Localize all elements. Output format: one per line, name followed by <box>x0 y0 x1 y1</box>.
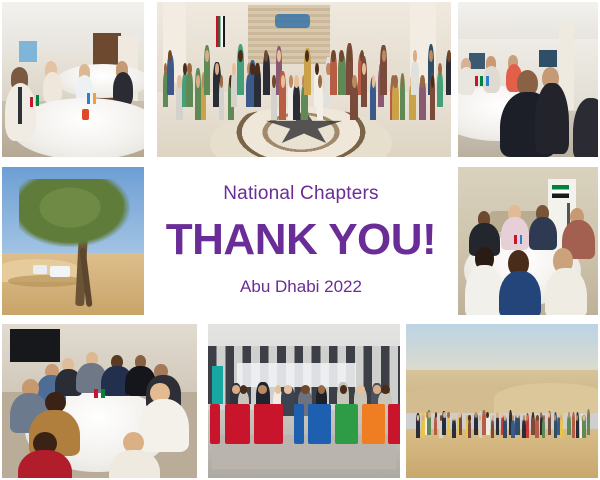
crowd-head <box>492 415 494 421</box>
crowd-head <box>417 415 420 421</box>
caption-main-line: THANK YOU! <box>166 218 436 262</box>
photo-desert-group-photo <box>406 324 598 478</box>
crowd-head <box>177 75 181 87</box>
crowd-head <box>453 415 455 421</box>
caption-block: National Chapters THANK YOU! Abu Dhabi 2… <box>150 163 452 318</box>
crowd-head <box>468 415 470 421</box>
crowd-head <box>447 412 450 418</box>
issup-letter-s <box>335 404 358 444</box>
crowd-head <box>272 75 275 87</box>
photo-conference-room-delegates <box>2 2 144 157</box>
crowd-head <box>362 63 366 75</box>
photo-workshop-table-session <box>2 324 197 478</box>
crowd-head <box>318 75 322 87</box>
issup-letter-u <box>362 404 385 444</box>
photo-desert-tree-landscape <box>2 167 144 315</box>
crowd-head <box>255 63 259 75</box>
crowd-head <box>486 412 489 418</box>
crowd-figure <box>411 61 419 95</box>
crowd-figure <box>434 416 437 435</box>
crowd-head <box>516 412 519 418</box>
crowd-head <box>543 415 545 421</box>
crowd-head <box>294 75 299 87</box>
crowd-head <box>532 412 534 418</box>
crowd-head <box>331 50 336 62</box>
crowd-head <box>428 412 431 418</box>
crowd-head <box>435 412 437 418</box>
crowd-figure <box>511 420 514 438</box>
crowd-figure <box>293 84 300 120</box>
issup-letter-m <box>254 404 283 444</box>
caption-top-line: National Chapters <box>223 184 378 205</box>
crowd-head <box>536 415 539 421</box>
crowd-head <box>187 63 192 75</box>
crowd-head <box>588 412 590 418</box>
crowd-figure <box>452 419 455 438</box>
crowd-head <box>496 412 498 418</box>
caption-sub-line: Abu Dhabi 2022 <box>240 278 362 297</box>
crowd-head <box>393 75 397 87</box>
crowd-head <box>352 75 357 87</box>
photo-group-photo-lobby <box>157 2 451 157</box>
crowd-head <box>238 50 243 62</box>
photo-collage: National Chapters THANK YOU! Abu Dhabi 2… <box>0 0 600 480</box>
crowd-head <box>583 415 585 421</box>
issup-letter-p <box>388 404 400 444</box>
photo-roundtable-discussion <box>458 167 598 315</box>
crowd-figure <box>186 71 194 108</box>
crowd-head <box>372 75 376 87</box>
photo-meeting-room-attendees <box>458 2 598 157</box>
crowd-figure <box>468 419 471 438</box>
crowd-head <box>420 75 425 87</box>
crowd-head <box>347 50 351 62</box>
issup-letters-group <box>208 324 400 478</box>
crowd-head <box>281 75 285 87</box>
crowd-figure <box>491 419 494 438</box>
crowd-head <box>382 50 386 62</box>
issup-letter-s <box>308 404 331 444</box>
crowd-head <box>504 415 506 421</box>
issup-letter-i <box>294 404 304 444</box>
issup-letter-i <box>210 404 220 444</box>
crowd-figure <box>392 82 399 120</box>
crowd-head <box>289 75 293 87</box>
photo-i-am-issup-letters <box>208 324 400 478</box>
crowd-head <box>196 75 200 87</box>
crowd-head <box>443 412 446 418</box>
crowd-figure <box>437 71 443 107</box>
issup-letter-a <box>225 404 250 444</box>
